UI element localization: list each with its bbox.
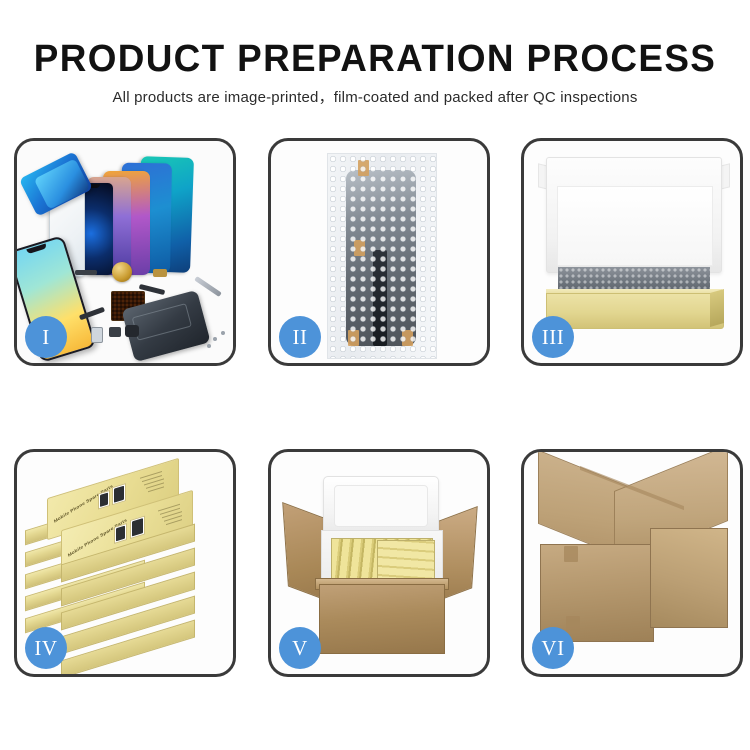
- tape-tab-1-icon: [358, 160, 369, 176]
- tape-tab-2-icon: [354, 240, 365, 256]
- gold-contact-icon: [153, 269, 167, 277]
- tape-tab-4-icon: [402, 330, 413, 346]
- tape-tab-3-icon: [348, 330, 359, 346]
- box-print-swatch-icon: [114, 523, 127, 544]
- process-step-panel-2: II: [268, 138, 490, 366]
- page-subtitle: All products are image-printed，film-coat…: [0, 89, 750, 107]
- box-print-swatch-icon: [130, 515, 145, 539]
- carton-tape-bottom-icon: [566, 616, 580, 632]
- screw-icon: [213, 337, 217, 341]
- process-step-panel-3: III: [521, 138, 743, 366]
- page-title: PRODUCT PREPARATION PROCESS: [11, 40, 739, 78]
- carton-side-face-icon: [650, 528, 728, 628]
- carton-tape-top-icon: [564, 546, 578, 562]
- step-badge-4: IV: [25, 627, 67, 669]
- screw-2-icon: [221, 331, 225, 335]
- box-print-swatch-icon: [112, 483, 126, 505]
- process-step-panel-4: Mobile Phone Spare Parts Mobile Phone Sp…: [14, 449, 236, 677]
- step-badge-5: V: [279, 627, 321, 669]
- process-step-panel-5: V: [268, 449, 490, 677]
- vibration-motor-icon: [125, 325, 139, 337]
- step-badge-6: VI: [532, 627, 574, 669]
- screw-3-icon: [207, 344, 211, 348]
- process-step-grid: I II III: [0, 138, 750, 693]
- wrapped-flex-cable-icon: [373, 250, 387, 346]
- step-badge-3: III: [532, 316, 574, 358]
- box-front-panel-icon: [546, 293, 724, 329]
- styrofoam-lid-icon: [323, 476, 439, 538]
- sim-tray-icon: [91, 327, 103, 343]
- box-right-side-icon: [710, 289, 724, 327]
- step-badge-2: II: [279, 316, 321, 358]
- battery-strip-icon: [75, 270, 97, 275]
- process-step-panel-1: I: [14, 138, 236, 366]
- speaker-coil-icon: [112, 262, 132, 282]
- box-lid-icon: [546, 157, 722, 273]
- carton-front-panel-icon: [319, 584, 445, 654]
- camera-module-icon: [109, 327, 121, 337]
- page-header: PRODUCT PREPARATION PROCESS All products…: [0, 0, 750, 120]
- bubble-wrap-bag-icon: [327, 153, 437, 359]
- box-print-swatch-icon: [98, 490, 110, 510]
- process-step-panel-6: VI: [521, 449, 743, 677]
- step-badge-1: I: [25, 316, 67, 358]
